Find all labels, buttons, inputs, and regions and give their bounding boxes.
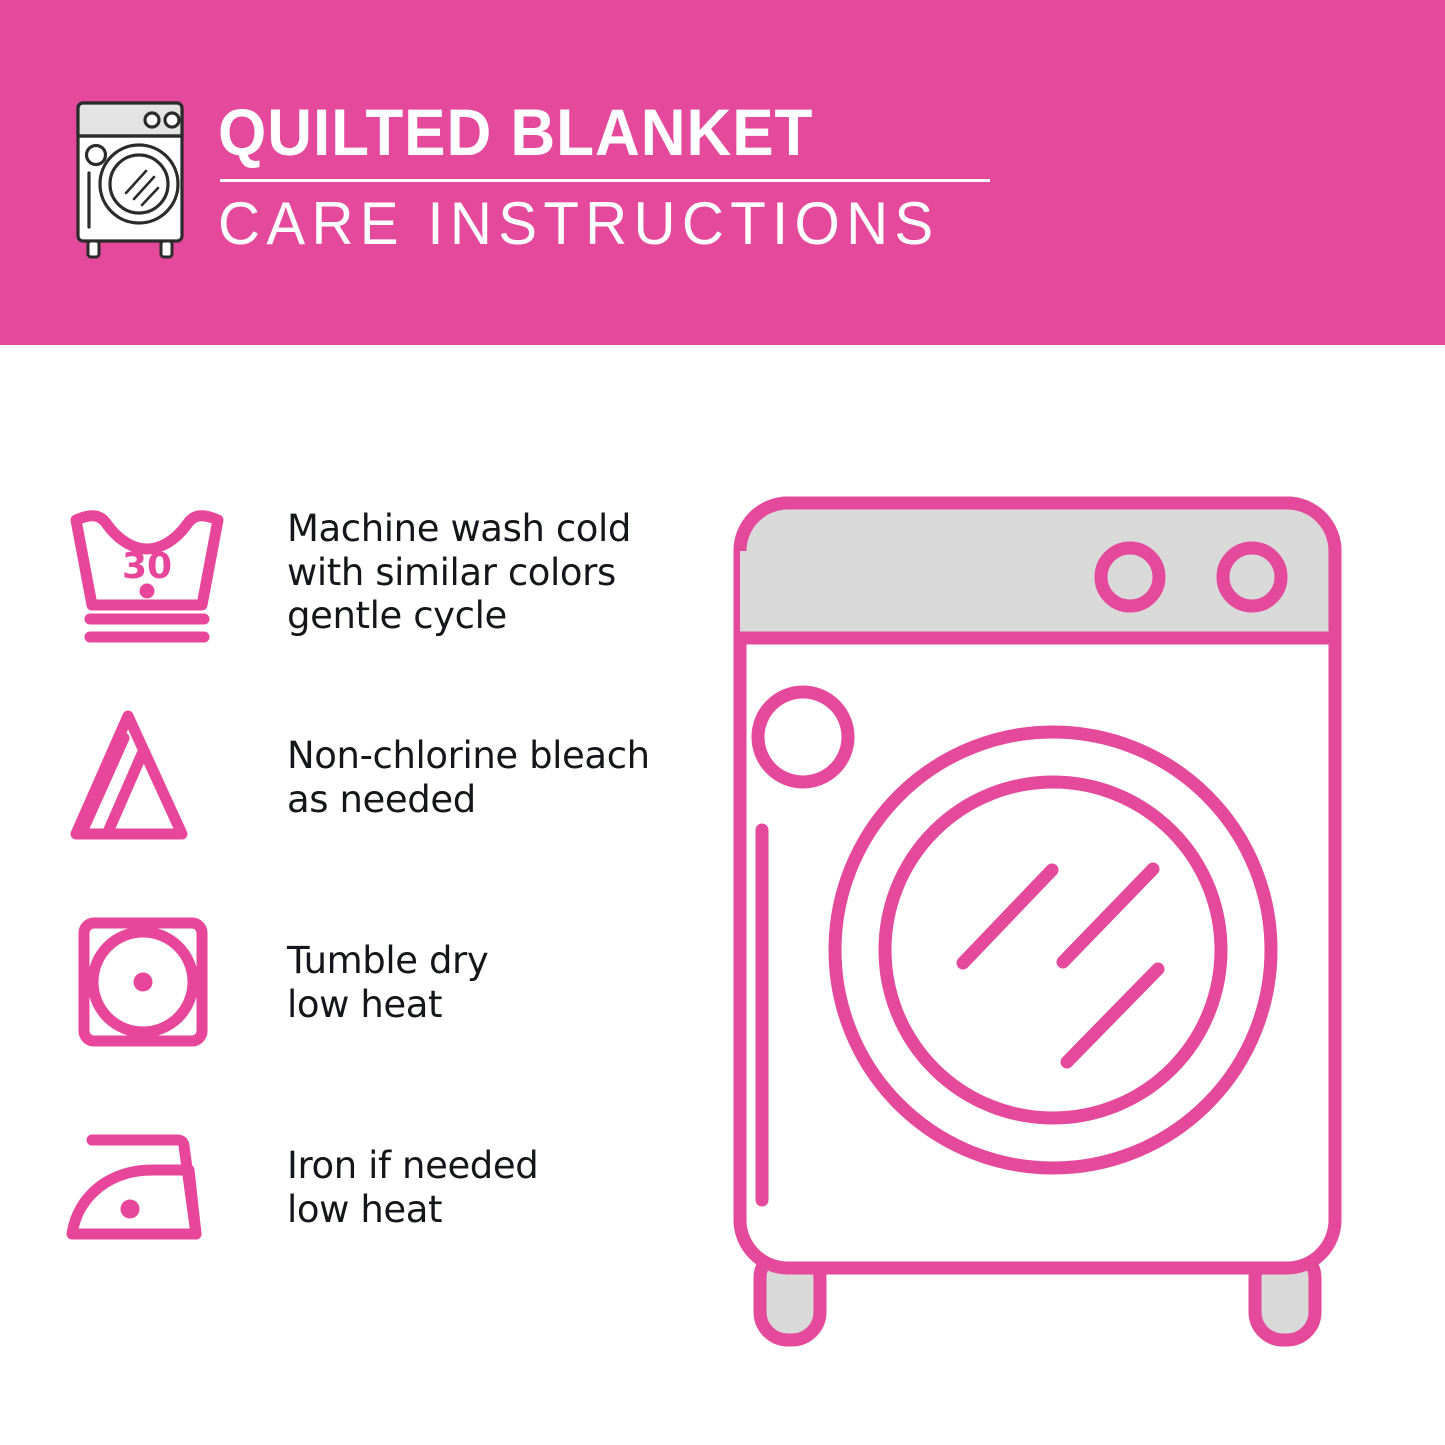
page-subtitle: CARE INSTRUCTIONS (218, 194, 967, 254)
care-row-wash: 30 Machine wash cold with similar colors… (62, 470, 682, 675)
care-instruction-list: 30 Machine wash cold with similar colors… (62, 470, 682, 1290)
header-content: QUILTED BLANKET CARE INSTRUCTIONS (60, 95, 990, 260)
non-chlorine-bleach-triangle-icon (62, 698, 232, 858)
care-text-bleach: Non-chlorine bleach as needed (287, 734, 650, 821)
header-banner: QUILTED BLANKET CARE INSTRUCTIONS (0, 0, 1445, 345)
care-line: low heat (287, 1188, 538, 1232)
care-row-tumble-dry: Tumble dry low heat (62, 880, 682, 1085)
large-washing-machine-illustration (715, 485, 1405, 1375)
care-line: Machine wash cold (287, 507, 631, 551)
care-row-iron: Iron if needed low heat (62, 1085, 682, 1290)
care-text-iron: Iron if needed low heat (287, 1144, 538, 1231)
care-row-bleach: Non-chlorine bleach as needed (62, 675, 682, 880)
wash-tub-30-gentle-icon: 30 (62, 493, 232, 653)
care-text-tumble-dry: Tumble dry low heat (287, 939, 488, 1026)
care-line: with similar colors (287, 551, 631, 595)
washing-machine-icon (60, 95, 200, 260)
care-line: Non-chlorine bleach (287, 734, 650, 778)
page-title: QUILTED BLANKET (218, 99, 944, 165)
tumble-dry-low-icon (62, 903, 232, 1063)
care-line: Iron if needed (287, 1144, 538, 1188)
wash-temperature-label: 30 (122, 546, 172, 587)
care-line: Tumble dry (287, 939, 488, 983)
care-line: gentle cycle (287, 594, 631, 638)
iron-low-heat-icon (62, 1108, 232, 1268)
header-divider (220, 179, 990, 182)
header-text-block: QUILTED BLANKET CARE INSTRUCTIONS (218, 95, 990, 254)
care-text-wash: Machine wash cold with similar colors ge… (287, 507, 631, 638)
care-line: as needed (287, 778, 650, 822)
care-line: low heat (287, 983, 488, 1027)
content-area: 30 Machine wash cold with similar colors… (0, 345, 1445, 1445)
